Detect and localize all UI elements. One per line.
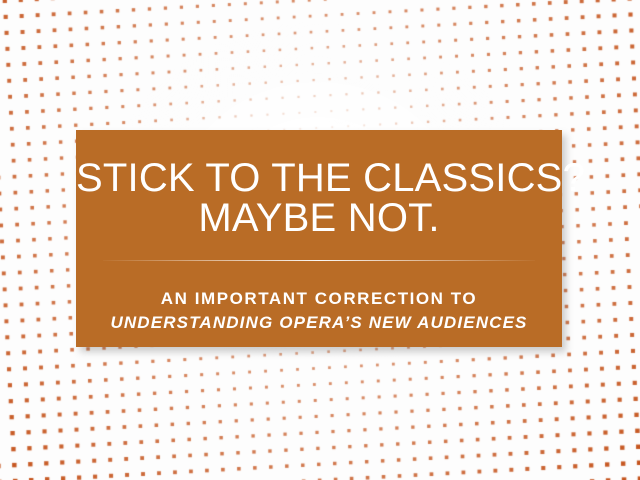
subtitle-line-1: AN IMPORTANT CORRECTION TO	[76, 288, 562, 310]
slide-canvas: STICK TO THE CLASSICS? MAYBE NOT. AN IMP…	[0, 0, 640, 480]
headline-line-2: MAYBE NOT.	[76, 198, 562, 238]
page-title: STICK TO THE CLASSICS? MAYBE NOT.	[76, 130, 562, 238]
headline-line-1: STICK TO THE CLASSICS?	[76, 158, 562, 198]
subtitle: AN IMPORTANT CORRECTION TO UNDERSTANDING…	[76, 261, 562, 334]
subtitle-line-2: UNDERSTANDING OPERA’S NEW AUDIENCES	[76, 310, 562, 334]
title-card: STICK TO THE CLASSICS? MAYBE NOT. AN IMP…	[76, 130, 562, 347]
